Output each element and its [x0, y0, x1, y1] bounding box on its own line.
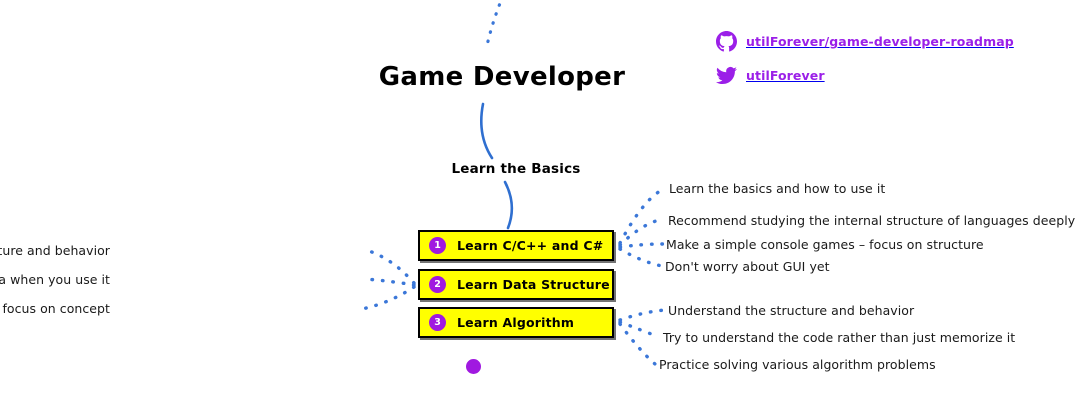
top-dotted-branch [486, 0, 503, 50]
curve-basics-to-node1 [505, 182, 512, 228]
node-label: Learn Data Structure [457, 277, 610, 292]
section-title-learn-the-basics: Learn the Basics [0, 161, 1032, 177]
twitter-link[interactable]: utilForever [716, 65, 825, 86]
twitter-link-label: utilForever [746, 68, 825, 83]
dot-line-n3-note3 [620, 324, 655, 364]
dot-line-n1-note4 [620, 249, 662, 266]
dot-line-n3-note2 [620, 322, 659, 337]
github-link-label: utilForever/game-developer-roadmap [746, 34, 1014, 49]
page-title: Game Developer [0, 62, 1004, 92]
dot-line-n1-note3 [620, 244, 663, 247]
node-label: Learn C/C++ and C# [457, 238, 603, 253]
note-item: Try to understand the code rather than j… [663, 330, 1015, 345]
note-item: Don't worry about GUI yet [665, 259, 830, 274]
end-node-dot [466, 359, 481, 374]
node-learn-c-cpp-csharp[interactable]: 1 Learn C/C++ and C# [418, 230, 614, 261]
dot-line-n1-note1 [620, 188, 666, 243]
note-item: Recommend studying the internal structur… [668, 213, 1075, 228]
dot-line-n1-note2 [620, 219, 664, 245]
twitter-icon [716, 65, 737, 86]
github-link[interactable]: utilForever/game-developer-roadmap [716, 31, 1014, 52]
dot-line-n2-note3 [362, 287, 414, 309]
github-icon [716, 31, 737, 52]
roadmap-canvas: Game Developer Learn the Basics utilFore… [0, 0, 1080, 404]
note-item: Learn the basics and how to use it [669, 181, 885, 196]
note-item: Understand the structure and behavior [0, 243, 110, 258]
node-learn-algorithm[interactable]: 3 Learn Algorithm [418, 307, 614, 338]
note-item: Think about the property of data when yo… [0, 272, 110, 287]
node-number-badge: 1 [429, 237, 446, 254]
note-item: Don't memorize the time complexity - foc… [0, 301, 110, 316]
node-number-badge: 3 [429, 314, 446, 331]
note-item: Practice solving various algorithm probl… [659, 357, 936, 372]
note-item: Understand the structure and behavior [668, 303, 914, 318]
node-number-badge: 2 [429, 276, 446, 293]
dot-line-n2-note1 [366, 250, 414, 283]
dot-line-n2-note2 [365, 279, 414, 285]
node-label: Learn Algorithm [457, 315, 574, 330]
node-learn-data-structure[interactable]: 2 Learn Data Structure [418, 269, 614, 300]
dot-line-n3-note1 [620, 310, 665, 320]
note-item: Make a simple console games – focus on s… [666, 237, 984, 252]
curve-title-to-basics [481, 104, 492, 158]
